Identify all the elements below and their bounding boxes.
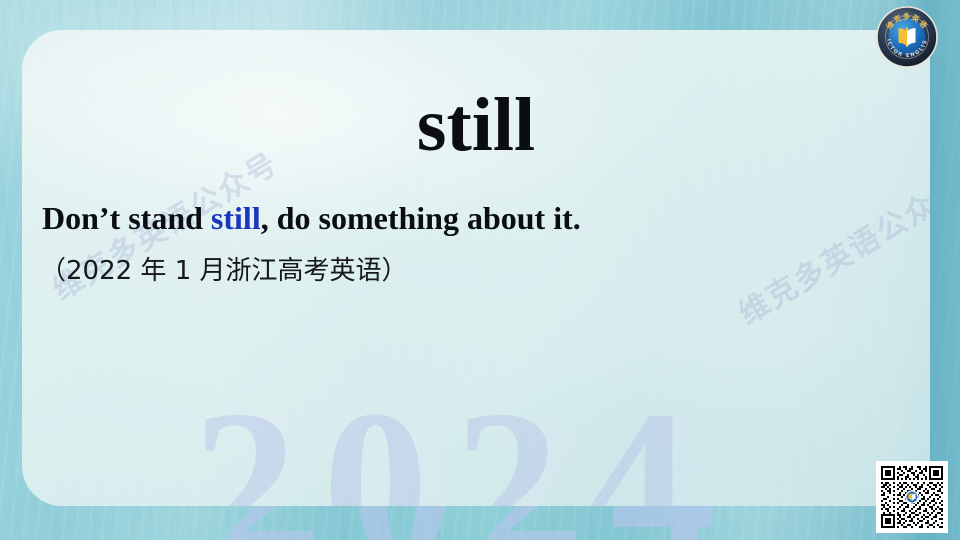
headword-title: still	[22, 87, 930, 163]
content-card: 2024 维克多英语公众号 维克多英语公众号 still Don’t stand…	[22, 30, 930, 506]
example-sentence-before: Don’t stand	[42, 200, 211, 236]
wechat-qr-code[interactable]	[876, 461, 948, 533]
year-watermark-foreground: 2024	[192, 379, 716, 506]
example-sentence-after: , do something about it.	[261, 200, 581, 236]
example-sentence-keyword: still	[211, 200, 261, 236]
example-sentence: Don’t stand still, do something about it…	[42, 199, 902, 237]
source-citation: （2022 年 1 月浙江高考英语）	[40, 256, 408, 287]
slide-canvas: 2024 2024 维克多英语公众号 维克多英语公众号 still Don’t …	[0, 0, 960, 540]
victor-english-logo-icon: 维克多英语 VICTOR ENGLISH	[876, 6, 938, 68]
diagonal-watermark-right: 维克多英语公众号	[729, 163, 930, 333]
